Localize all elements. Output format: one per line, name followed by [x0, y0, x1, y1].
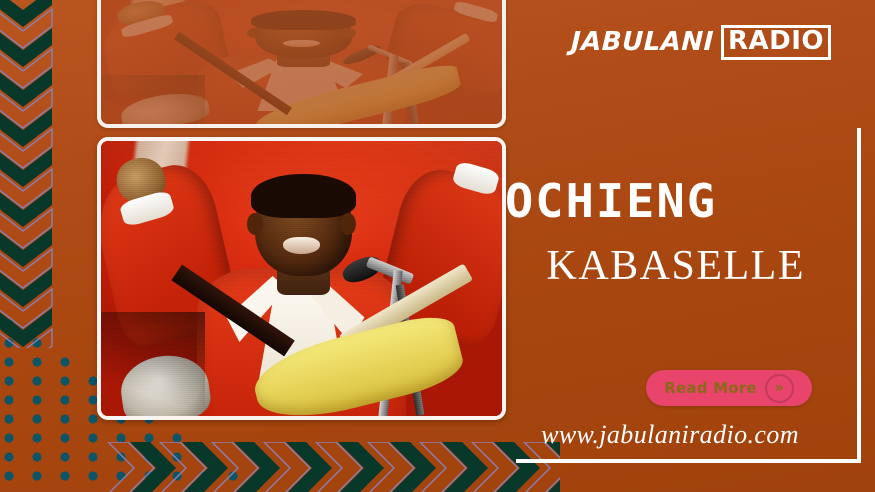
poster-canvas: JABULANI RADIO OCHIENG KABASELLE Read Mo…	[0, 0, 875, 492]
brand-logo-boxed-word: RADIO	[721, 25, 831, 60]
accent-line-horizontal	[516, 459, 861, 463]
secondary-photo-image	[101, 0, 502, 124]
brand-logo-word: JABULANI	[571, 27, 715, 57]
main-photo-image	[101, 141, 502, 416]
read-more-label: Read More	[664, 379, 756, 397]
brand-logo[interactable]: JABULANI RADIO	[571, 25, 831, 60]
headline-secondary: KABASELLE	[505, 245, 805, 287]
headline-primary: OCHIENG	[505, 178, 821, 224]
main-photo	[97, 137, 506, 420]
read-more-button[interactable]: Read More »	[646, 370, 812, 406]
secondary-photo	[97, 0, 506, 128]
chevron-row-decoration	[0, 442, 560, 492]
accent-line-vertical	[857, 128, 861, 463]
website-url[interactable]: www.jabulaniradio.com	[500, 420, 840, 450]
chevron-column-decoration	[0, 0, 56, 348]
double-chevron-right-icon: »	[765, 374, 794, 403]
